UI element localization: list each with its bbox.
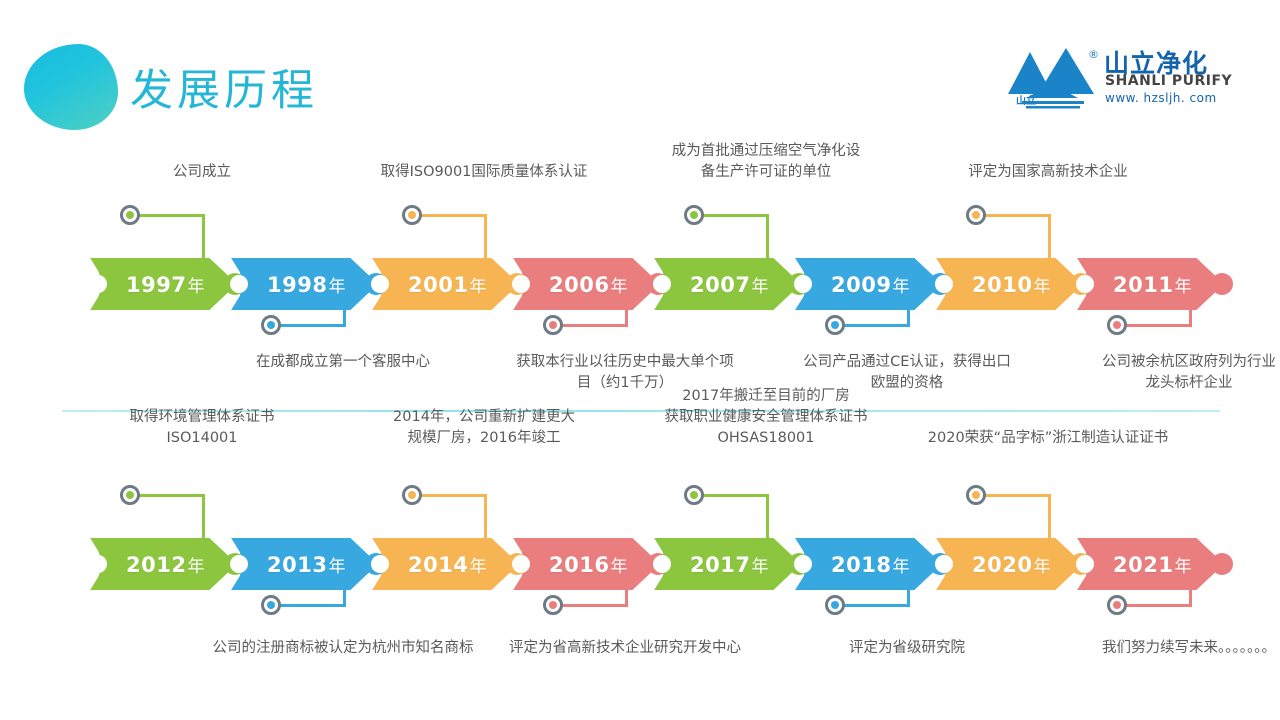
marker-center-dot bbox=[126, 491, 134, 499]
timeline-marker-2009 bbox=[825, 315, 845, 335]
year-number: 2011 bbox=[1113, 273, 1173, 297]
chevron-notch-dot bbox=[371, 555, 389, 573]
timeline-caption-2020: 2020荣获“品字标”浙江制造认证证书 bbox=[913, 428, 1183, 449]
page-title: 发展历程 bbox=[130, 56, 318, 118]
timeline-year-chevron-2020[interactable]: 2020年 bbox=[930, 538, 1083, 590]
chevron-notch-dot bbox=[89, 275, 107, 293]
connector-horizontal bbox=[703, 214, 769, 217]
year-label: 2012年 bbox=[116, 552, 205, 577]
marker-center-dot bbox=[267, 321, 275, 329]
logo-name-en: SHANLI PURIFY bbox=[1105, 73, 1232, 89]
connector-horizontal bbox=[844, 324, 910, 327]
marker-center-dot bbox=[408, 491, 416, 499]
connector-vertical bbox=[907, 588, 910, 605]
chevron-notch-dot bbox=[371, 275, 389, 293]
timeline-caption-2014: 2014年，公司重新扩建更大 规模厂房，2016年竣工 bbox=[349, 407, 619, 449]
timeline-caption-2011: 公司被余杭区政府列为行业 龙头标杆企业 bbox=[1054, 352, 1280, 394]
timeline-marker-2014 bbox=[402, 485, 422, 505]
timeline-year-chevron-2016[interactable]: 2016年 bbox=[507, 538, 660, 590]
year-label: 2011年 bbox=[1103, 272, 1192, 297]
year-number: 2018 bbox=[831, 553, 891, 577]
connector-vertical bbox=[625, 308, 628, 325]
timeline-year-chevron-2006[interactable]: 2006年 bbox=[507, 258, 660, 310]
timeline-year-chevron-2021[interactable]: 2021年 bbox=[1071, 538, 1224, 590]
connector-horizontal bbox=[985, 494, 1051, 497]
year-number: 2017 bbox=[690, 553, 750, 577]
year-suffix: 年 bbox=[469, 277, 487, 297]
timeline-caption-2010: 评定为国家高新技术企业 bbox=[913, 162, 1183, 183]
year-number: 2020 bbox=[972, 553, 1032, 577]
company-logo: ® 山立 山立净化 SHANLI PURIFY www. hzsljh. com bbox=[1008, 44, 1218, 122]
chevron-notch-dot bbox=[653, 555, 671, 573]
marker-center-dot bbox=[126, 211, 134, 219]
logo-website-url: www. hzsljh. com bbox=[1105, 91, 1217, 105]
timeline-marker-1998 bbox=[261, 315, 281, 335]
year-label: 2016年 bbox=[539, 552, 628, 577]
year-number: 1998 bbox=[267, 273, 327, 297]
marker-center-dot bbox=[1113, 321, 1121, 329]
connector-vertical bbox=[1189, 588, 1192, 605]
year-number: 2013 bbox=[267, 553, 327, 577]
connector-horizontal bbox=[985, 214, 1051, 217]
year-label: 2007年 bbox=[680, 272, 769, 297]
timeline-marker-2001 bbox=[402, 205, 422, 225]
chevron-notch-dot bbox=[1076, 555, 1094, 573]
chevron-notch-dot bbox=[512, 555, 530, 573]
timeline-year-chevron-1997[interactable]: 1997年 bbox=[84, 258, 237, 310]
marker-center-dot bbox=[831, 321, 839, 329]
connector-vertical bbox=[766, 214, 769, 261]
year-suffix: 年 bbox=[1033, 557, 1051, 577]
marker-center-dot bbox=[972, 211, 980, 219]
timeline-year-chevron-2001[interactable]: 2001年 bbox=[366, 258, 519, 310]
year-label: 2020年 bbox=[962, 552, 1051, 577]
marker-center-dot bbox=[549, 601, 557, 609]
timeline-marker-2018 bbox=[825, 595, 845, 615]
year-suffix: 年 bbox=[892, 277, 910, 297]
year-suffix: 年 bbox=[1174, 277, 1192, 297]
chevron-notch-dot bbox=[794, 275, 812, 293]
registered-mark: ® bbox=[1088, 48, 1099, 61]
timeline-caption-2018: 评定为省级研究院 bbox=[772, 638, 1042, 659]
timeline-year-chevron-2012[interactable]: 2012年 bbox=[84, 538, 237, 590]
connector-vertical bbox=[907, 308, 910, 325]
year-number: 2014 bbox=[408, 553, 468, 577]
year-label: 2001年 bbox=[398, 272, 487, 297]
timeline-caption-2016: 评定为省高新技术企业研究开发中心 bbox=[490, 638, 760, 659]
year-suffix: 年 bbox=[328, 557, 346, 577]
connector-vertical bbox=[202, 214, 205, 261]
year-label: 1998年 bbox=[257, 272, 346, 297]
connector-vertical bbox=[1048, 214, 1051, 261]
chevron-notch-dot bbox=[230, 275, 248, 293]
timeline-caption-1998: 在成都成立第一个客服中心 bbox=[208, 352, 478, 373]
timeline-year-chevron-2013[interactable]: 2013年 bbox=[225, 538, 378, 590]
marker-center-dot bbox=[408, 211, 416, 219]
connector-horizontal bbox=[703, 494, 769, 497]
connector-vertical bbox=[202, 494, 205, 541]
timeline-caption-2013: 公司的注册商标被认定为杭州市知名商标 bbox=[208, 638, 478, 659]
marker-center-dot bbox=[549, 321, 557, 329]
chevron-tip-knob bbox=[1211, 273, 1233, 295]
marker-center-dot bbox=[1113, 601, 1121, 609]
timeline-marker-2017 bbox=[684, 485, 704, 505]
timeline-year-chevron-1998[interactable]: 1998年 bbox=[225, 258, 378, 310]
connector-vertical bbox=[1048, 494, 1051, 541]
year-suffix: 年 bbox=[610, 277, 628, 297]
year-number: 2009 bbox=[831, 273, 891, 297]
year-label: 2010年 bbox=[962, 272, 1051, 297]
connector-vertical bbox=[343, 588, 346, 605]
connector-vertical bbox=[625, 588, 628, 605]
connector-horizontal bbox=[562, 324, 628, 327]
chevron-notch-dot bbox=[512, 275, 530, 293]
marker-center-dot bbox=[690, 491, 698, 499]
year-suffix: 年 bbox=[892, 557, 910, 577]
marker-center-dot bbox=[972, 491, 980, 499]
year-label: 2017年 bbox=[680, 552, 769, 577]
timeline-marker-2012 bbox=[120, 485, 140, 505]
year-suffix: 年 bbox=[328, 277, 346, 297]
logo-mark-label: 山立 bbox=[1016, 92, 1036, 107]
timeline-caption-1997: 公司成立 bbox=[67, 162, 337, 183]
connector-horizontal bbox=[280, 324, 346, 327]
year-label: 2009年 bbox=[821, 272, 910, 297]
year-number: 2001 bbox=[408, 273, 468, 297]
connector-horizontal bbox=[1126, 324, 1192, 327]
timeline-caption-2007: 成为首批通过压缩空气净化设 备生产许可证的单位 bbox=[631, 141, 901, 183]
year-number: 2012 bbox=[126, 553, 186, 577]
timeline-marker-2007 bbox=[684, 205, 704, 225]
year-number: 2021 bbox=[1113, 553, 1173, 577]
chevron-notch-dot bbox=[935, 555, 953, 573]
chevron-notch-dot bbox=[653, 275, 671, 293]
connector-vertical bbox=[766, 494, 769, 541]
connector-horizontal bbox=[421, 494, 487, 497]
connector-vertical bbox=[484, 214, 487, 261]
year-suffix: 年 bbox=[1174, 557, 1192, 577]
decorative-blob bbox=[24, 44, 118, 130]
connector-horizontal bbox=[280, 604, 346, 607]
year-number: 2016 bbox=[549, 553, 609, 577]
year-label: 1997年 bbox=[116, 272, 205, 297]
chevron-notch-dot bbox=[1076, 275, 1094, 293]
year-label: 2021年 bbox=[1103, 552, 1192, 577]
connector-horizontal bbox=[139, 214, 205, 217]
year-number: 2006 bbox=[549, 273, 609, 297]
chevron-notch-dot bbox=[89, 555, 107, 573]
marker-center-dot bbox=[690, 211, 698, 219]
timeline-marker-2011 bbox=[1107, 315, 1127, 335]
year-number: 1997 bbox=[126, 273, 186, 297]
year-suffix: 年 bbox=[187, 277, 205, 297]
timeline-marker-2013 bbox=[261, 595, 281, 615]
timeline-year-chevron-2018[interactable]: 2018年 bbox=[789, 538, 942, 590]
year-suffix: 年 bbox=[1033, 277, 1051, 297]
year-suffix: 年 bbox=[751, 277, 769, 297]
chevron-notch-dot bbox=[230, 555, 248, 573]
chevron-notch-dot bbox=[794, 555, 812, 573]
timeline-caption-2021: 我们努力续写未来。。。。。。。 bbox=[1054, 638, 1280, 659]
timeline-caption-2001: 取得ISO9001国际质量体系认证 bbox=[349, 162, 619, 183]
connector-horizontal bbox=[421, 214, 487, 217]
year-suffix: 年 bbox=[187, 557, 205, 577]
timeline-year-chevron-2007[interactable]: 2007年 bbox=[648, 258, 801, 310]
year-suffix: 年 bbox=[751, 557, 769, 577]
year-suffix: 年 bbox=[469, 557, 487, 577]
timeline-year-chevron-2017[interactable]: 2017年 bbox=[648, 538, 801, 590]
timeline-marker-2021 bbox=[1107, 595, 1127, 615]
connector-vertical bbox=[343, 308, 346, 325]
year-number: 2007 bbox=[690, 273, 750, 297]
timeline-caption-2017: 2017年搬迁至目前的厂房 获取职业健康安全管理体系证书 OHSAS18001 bbox=[631, 386, 901, 449]
year-label: 2014年 bbox=[398, 552, 487, 577]
year-number: 2010 bbox=[972, 273, 1032, 297]
year-label: 2006年 bbox=[539, 272, 628, 297]
timeline-year-chevron-2014[interactable]: 2014年 bbox=[366, 538, 519, 590]
year-suffix: 年 bbox=[610, 557, 628, 577]
timeline-marker-2016 bbox=[543, 595, 563, 615]
timeline-marker-2010 bbox=[966, 205, 986, 225]
timeline-caption-2012: 取得环境管理体系证书 ISO14001 bbox=[67, 407, 337, 449]
connector-horizontal bbox=[844, 604, 910, 607]
connector-horizontal bbox=[562, 604, 628, 607]
year-label: 2018年 bbox=[821, 552, 910, 577]
marker-center-dot bbox=[267, 601, 275, 609]
timeline-year-chevron-2011[interactable]: 2011年 bbox=[1071, 258, 1224, 310]
year-label: 2013年 bbox=[257, 552, 346, 577]
marker-center-dot bbox=[831, 601, 839, 609]
connector-horizontal bbox=[1126, 604, 1192, 607]
timeline-marker-2020 bbox=[966, 485, 986, 505]
chevron-notch-dot bbox=[935, 275, 953, 293]
timeline-marker-2006 bbox=[543, 315, 563, 335]
timeline-marker-1997 bbox=[120, 205, 140, 225]
connector-vertical bbox=[1189, 308, 1192, 325]
timeline-year-chevron-2010[interactable]: 2010年 bbox=[930, 258, 1083, 310]
page-header: 发展历程 ® 山立 山立净化 SHANLI PURIFY www. hzsljh… bbox=[0, 0, 1280, 140]
connector-vertical bbox=[484, 494, 487, 541]
chevron-tip-knob bbox=[1211, 553, 1233, 575]
timeline-year-chevron-2009[interactable]: 2009年 bbox=[789, 258, 942, 310]
connector-horizontal bbox=[139, 494, 205, 497]
